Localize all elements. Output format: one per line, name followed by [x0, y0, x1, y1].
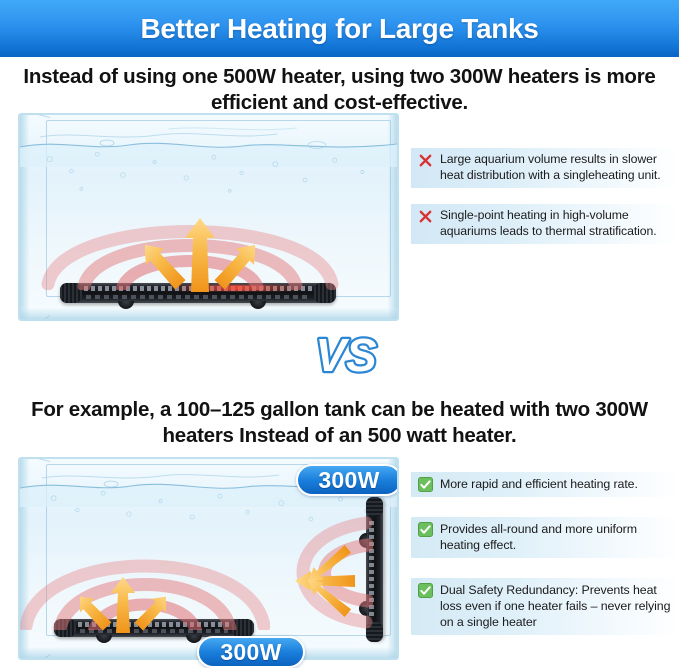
heater-vents	[78, 622, 230, 627]
heater-cap-left	[60, 283, 82, 303]
list-item: Single-point heating in high-volume aqua…	[411, 204, 679, 244]
heater-cap-right	[314, 283, 336, 303]
page-title: Better Heating for Large Tanks	[140, 13, 538, 45]
heater-glow	[170, 285, 303, 291]
suction-cup	[96, 635, 112, 643]
check-icon	[418, 522, 433, 537]
list-item-text: More rapid and efficient heating rate.	[440, 476, 638, 492]
heater-cap-right	[232, 619, 254, 637]
list-item-text: Dual Safety Redundancy: Prevents heat lo…	[440, 582, 671, 630]
glass-edge-bottom	[20, 308, 397, 319]
bullet-list-negatives: Large aquarium volume results in slower …	[411, 148, 679, 260]
water-surface-top	[20, 121, 397, 167]
svg-text:VS: VS	[315, 329, 377, 381]
heater-vents-secondary	[86, 295, 310, 299]
list-item: Large aquarium volume results in slower …	[411, 148, 679, 188]
list-item-text: Large aquarium volume results in slower …	[440, 152, 671, 183]
tank-illustration-300w: 300W	[18, 457, 399, 660]
suction-cup	[359, 601, 367, 616]
heater-cap-bottom	[366, 622, 383, 642]
list-item-text: Provides all-round and more uniform heat…	[440, 521, 671, 553]
glass-edge-left	[20, 115, 29, 319]
cross-icon	[418, 153, 433, 168]
heater-vertical-300w	[366, 497, 383, 642]
heater-horizontal-300w	[54, 619, 254, 637]
lead-text-mid: For example, a 100–125 gallon tank can b…	[18, 397, 661, 449]
list-item: Dual Safety Redundancy: Prevents heat lo…	[411, 578, 679, 635]
bullet-list-positives: More rapid and efficient heating rate. P…	[411, 472, 679, 655]
check-icon	[418, 583, 433, 598]
heater-horizontal-500w	[60, 283, 336, 303]
suction-cup	[359, 533, 367, 548]
heater-vents	[369, 521, 374, 618]
list-item: Provides all-round and more uniform heat…	[411, 517, 679, 558]
heater-cap-left	[54, 619, 76, 637]
list-item-text: Single-point heating in high-volume aqua…	[440, 208, 671, 239]
badge-300w-bottom: 300W	[197, 636, 305, 668]
tank-perspective-lines	[46, 120, 391, 297]
vs-badge: VS	[311, 325, 381, 387]
glass-edge-right	[388, 115, 397, 319]
lead-text-top: Instead of using one 500W heater, using …	[18, 64, 661, 116]
glass-edge-left	[20, 459, 29, 658]
check-icon	[418, 477, 433, 492]
tank-illustration-500w: 500W	[18, 113, 399, 321]
header-banner: Better Heating for Large Tanks	[0, 0, 679, 57]
bubbles-top	[20, 145, 397, 203]
infographic-page: Better Heating for Large Tanks Instead o…	[0, 0, 679, 668]
heater-cap-top	[366, 497, 383, 517]
list-item: More rapid and efficient heating rate.	[411, 472, 679, 497]
cross-icon	[418, 209, 433, 224]
badge-300w-top: 300W	[296, 464, 399, 496]
heater-vents-secondary	[80, 629, 228, 633]
